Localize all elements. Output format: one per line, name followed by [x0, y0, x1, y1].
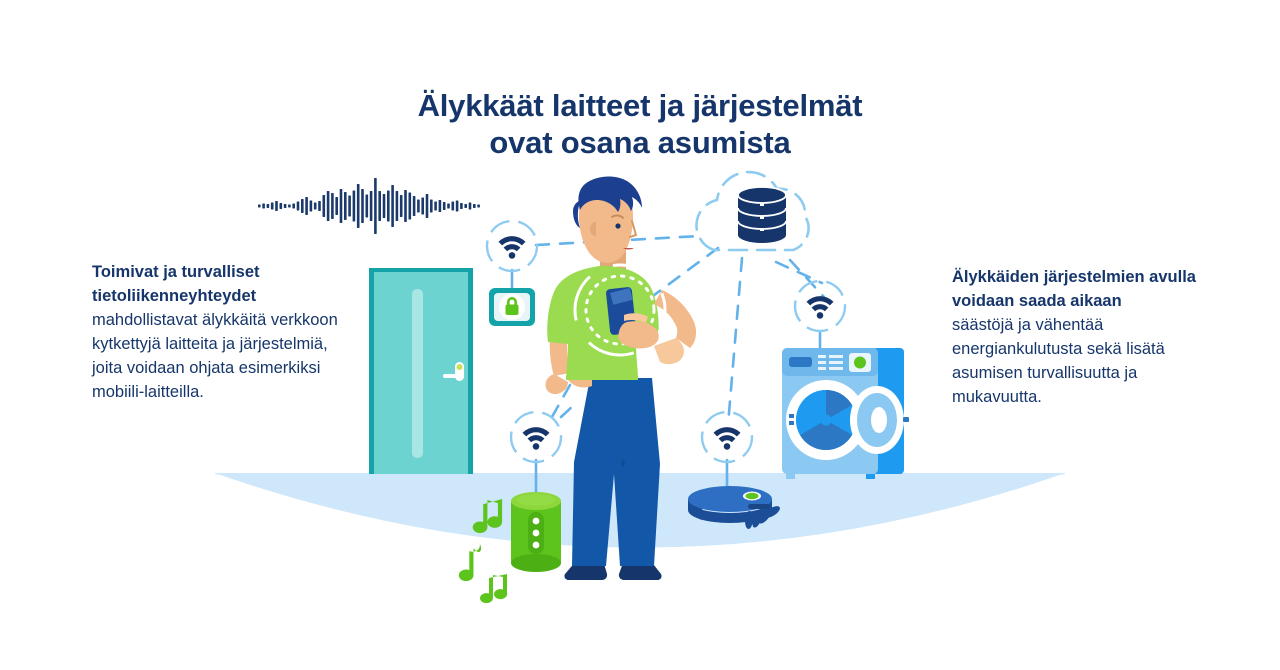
hand-on-hip	[545, 374, 568, 394]
head	[573, 177, 642, 263]
text-left-lead: Toimivat ja turvalliset tietoliikenneyht…	[92, 260, 344, 308]
text-right-lead: Älykkäiden järjestelmien avulla voidaan …	[952, 265, 1224, 313]
wifi-icon-door[interactable]	[487, 221, 537, 271]
cloud-server[interactable]	[696, 172, 808, 250]
wifi-glyph	[807, 296, 834, 319]
text-block-right: Älykkäiden järjestelmien avulla voidaan …	[952, 265, 1224, 409]
lock-badge[interactable]	[489, 288, 535, 326]
database-icon	[738, 187, 786, 243]
wifi-icon-vacuum[interactable]	[702, 412, 752, 462]
wifi-glyph	[523, 427, 550, 450]
smart-speaker[interactable]	[511, 492, 561, 572]
wifi-glyph	[714, 427, 741, 450]
control-lines	[818, 355, 843, 370]
wifi-icon-washer[interactable]	[795, 281, 845, 331]
front-door[interactable]	[369, 268, 473, 474]
page-title-line-1: Älykkäät laitteet ja järjestelmät	[0, 87, 1280, 124]
text-block-left: Toimivat ja turvalliset tietoliikenneyht…	[92, 260, 344, 404]
wifi-glyph	[499, 236, 526, 259]
text-right-body: säästöjä ja vähentää energiankulutusta s…	[952, 313, 1224, 409]
audio-waveform-icon	[258, 178, 480, 234]
washing-machine[interactable]	[782, 348, 909, 479]
text-left-body: mahdollistavat älykkäitä verkkoon kytket…	[92, 308, 344, 404]
page-title-line-2: ovat osana asumista	[0, 124, 1280, 161]
infographic-canvas: Älykkäät laitteet ja järjestelmät ovat o…	[0, 0, 1280, 670]
page-title: Älykkäät laitteet ja järjestelmät ovat o…	[0, 87, 1280, 161]
wifi-icon-speaker[interactable]	[511, 412, 561, 462]
